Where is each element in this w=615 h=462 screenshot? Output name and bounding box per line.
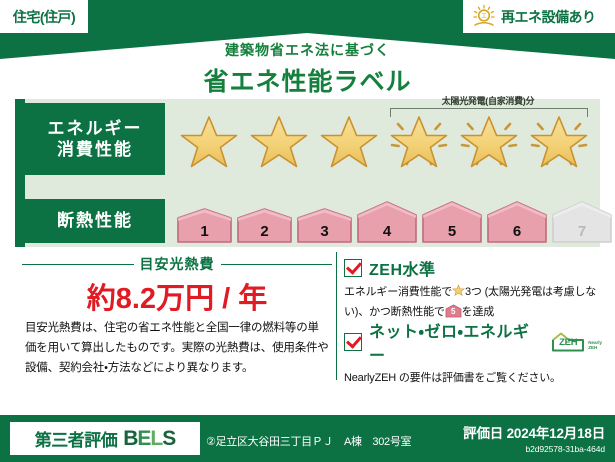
zeh-standard-description: エネルギー消費性能で3つ (太陽光発電は考慮しない)、かつ断熱性能で5を達成 (344, 284, 602, 321)
insulation-grade-number: 1 (176, 223, 233, 240)
sun-icon: エ (471, 4, 497, 30)
building-type-tag-label: 住宅(住戸) (13, 7, 75, 27)
insulation-grade-active: 5 (421, 200, 483, 244)
energy-performance-row-label: エネルギー 消費性能 (25, 103, 165, 175)
svg-text:エ: エ (481, 13, 487, 20)
inline-star-icon (452, 284, 465, 304)
insulation-grade-active: 3 (296, 207, 353, 244)
inline-house-number: 5 (445, 306, 462, 319)
zeh-standard-checkbox[interactable] (344, 259, 362, 277)
footer-bar: 第三者評価 BELS ②足立区大谷田三丁目ＰＪ A棟 302号室 評価日 202… (0, 415, 615, 462)
insulation-performance-row-label: 断熱性能 (25, 199, 165, 243)
zeh-house-icon: ZEH (550, 331, 586, 353)
evaluation-date-label: 評価日 (463, 426, 503, 441)
insulation-grade-number: 7 (551, 223, 613, 240)
energy-star (245, 108, 313, 172)
zeh-desc-star-count: 3つ (太陽光発電 (465, 286, 542, 298)
zeh-standard-title: ZEH水準 (369, 256, 436, 280)
zeh-logo-subtext: Nearly ZEH (588, 340, 602, 353)
title-block: 建築物省エネ法に基づく 省エネ性能ラベル (0, 40, 615, 98)
zeh-standard-block: ZEH水準 エネルギー消費性能で3つ (太陽光発電は考慮しない)、かつ断熱性能で… (344, 256, 602, 321)
insulation-grade-active: 2 (236, 207, 293, 244)
bels-logo: 第三者評価 BELS (10, 422, 200, 455)
net-zero-energy-title: ネット・ゼロ・エネルギー (369, 318, 543, 366)
insulation-grade-number: 6 (486, 223, 548, 240)
page-title: 省エネ性能ラベル (0, 62, 615, 98)
insulation-grade-scale: 1 2 3 4 5 6 7 (176, 196, 613, 244)
zeh-logo: ZEH Nearly ZEH (550, 331, 602, 353)
energy-star-solar (385, 108, 453, 172)
evaluation-date: 評価日 2024年12月18日 (463, 422, 605, 442)
energy-star-rating (175, 108, 595, 172)
zeh-desc-part-3: を達成 (462, 306, 494, 318)
zeh-logo-text: ZEH (550, 337, 586, 348)
inline-house-icon: 5 (445, 304, 462, 318)
energy-performance-label: 住宅(住戸) エ (0, 0, 615, 462)
property-address: ②足立区大谷田三丁目ＰＪ A棟 302号室 (206, 433, 411, 449)
bels-en-label: BELS (123, 427, 175, 451)
section-divider (336, 252, 337, 380)
insulation-grade-number: 5 (421, 223, 483, 240)
estimated-cost-heading: 目安光熱費 (22, 254, 332, 274)
estimated-cost-note: 目安光熱費は、住宅の省エネ性能と全国一律の燃料等の単価を用いて算出したものです。… (25, 318, 330, 378)
estimated-cost-label: 目安光熱費 (140, 254, 215, 274)
zeh-desc-part-1: エネルギー消費性能で (344, 286, 452, 298)
renewable-energy-tag-label: 再エネ設備あり (501, 7, 596, 27)
bels-jp-label: 第三者評価 (35, 426, 118, 451)
energy-star (315, 108, 383, 172)
insulation-grade-active: 4 (356, 200, 418, 244)
insulation-grade-active: 6 (486, 200, 548, 244)
energy-label-line-1: エネルギー (48, 118, 143, 139)
insulation-grade-active: 1 (176, 207, 233, 244)
insulation-grade-number: 2 (236, 223, 293, 240)
top-bar: 住宅(住戸) エ (0, 0, 615, 36)
energy-star-solar (455, 108, 523, 172)
estimated-cost-value: 約8.2万円 / 年 (22, 275, 332, 317)
net-zero-energy-block: ネット・ゼロ・エネルギー ZEH Nearly ZEH NearlyZEH の要… (344, 318, 602, 388)
evaluation-info: 評価日 2024年12月18日 b2d92578-31ba-464d (463, 422, 605, 454)
document-id: b2d92578-31ba-464d (463, 444, 605, 454)
energy-star-solar (525, 108, 593, 172)
heading-rule-left (22, 264, 134, 265)
net-zero-energy-header: ネット・ゼロ・エネルギー ZEH Nearly ZEH (344, 318, 602, 366)
insulation-grade-inactive: 7 (551, 200, 613, 244)
net-zero-energy-description: NearlyZEH の要件は評価書をご覧ください。 (344, 370, 602, 388)
heading-rule-right (221, 264, 333, 265)
renewable-energy-tag: エ 再エネ設備あり (463, 0, 615, 33)
insulation-grade-number: 3 (296, 223, 353, 240)
title-subtitle: 建築物省エネ法に基づく (0, 40, 615, 60)
net-zero-energy-checkbox[interactable] (344, 333, 362, 351)
zeh-logo-sub-line-2: ZEH (588, 345, 602, 350)
zeh-standard-header: ZEH水準 (344, 256, 602, 280)
energy-label-line-2: 消費性能 (57, 139, 133, 160)
insulation-label-text: 断熱性能 (57, 210, 133, 231)
solar-bracket-label: 太陽光発電(自家消費)分 (388, 94, 588, 107)
energy-star (175, 108, 243, 172)
insulation-grade-number: 4 (356, 223, 418, 240)
building-type-tag: 住宅(住戸) (0, 0, 88, 33)
evaluation-date-value: 2024年12月18日 (507, 426, 605, 441)
